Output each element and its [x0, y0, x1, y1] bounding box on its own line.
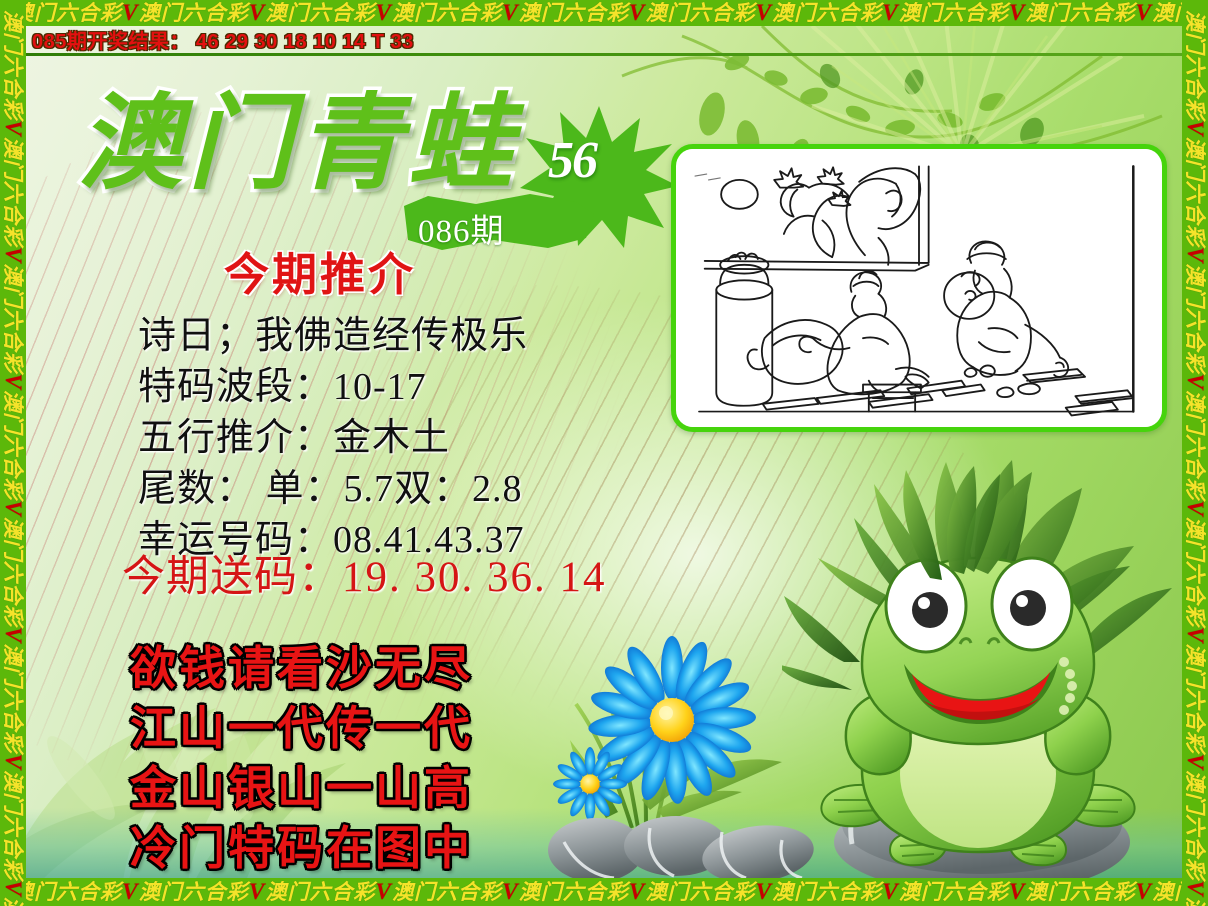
- border-unit-accent: V: [0, 120, 26, 137]
- recommend-row-0: 诗日；我佛造经传极乐: [138, 311, 528, 362]
- border-unit-accent: V: [122, 0, 139, 26]
- result-text: 085期开奖结果： 46 29 30 18 10 14 T 33: [32, 26, 414, 54]
- border-unit-text: 澳门六合彩: [1026, 1, 1136, 25]
- border-unit-text: 澳门六合彩: [1183, 390, 1207, 500]
- border-unit-accent: V: [502, 0, 519, 26]
- border-unit-text: 澳门六合彩: [1, 897, 25, 906]
- page-title: 澳门青蛙: [78, 92, 518, 196]
- border-unit-accent: V: [249, 0, 266, 26]
- border-unit-accent: V: [1182, 373, 1208, 390]
- border-unit-text: 澳门六合彩: [1183, 897, 1207, 906]
- border-unit-text: 澳门六合彩: [645, 880, 755, 904]
- border-unit-accent: V: [122, 879, 139, 905]
- border-unit-text: 澳门六合彩: [1, 643, 25, 753]
- recommend-list: 诗日；我佛造经传极乐 特码波段：10-17 五行推介：金木土 尾数： 单：5.7…: [138, 311, 528, 566]
- issue-number-label: 086期: [418, 204, 505, 252]
- border-unit-accent: V: [0, 753, 26, 770]
- border-unit-accent: V: [502, 879, 519, 905]
- border-unit-accent: V: [0, 373, 26, 390]
- border-unit-text: 澳门六合彩: [392, 880, 502, 904]
- border-unit-accent: V: [1182, 753, 1208, 770]
- border-unit-text: 澳门六合彩: [12, 880, 122, 904]
- border-unit-accent: V: [1182, 247, 1208, 264]
- border-bottom: 澳门六合彩V澳门六合彩V澳门六合彩V澳门六合彩V澳门六合彩V澳门六合彩V澳门六合…: [0, 878, 1208, 906]
- poem-line-1: 江山一代传一代: [130, 698, 473, 758]
- issue-badge-56: 56: [548, 131, 596, 190]
- border-unit-accent: V: [1182, 880, 1208, 897]
- border-unit-accent: V: [629, 0, 646, 26]
- border-unit-text: 澳门六合彩: [12, 1, 122, 25]
- border-unit-text: 澳门六合彩: [899, 880, 1009, 904]
- border-unit-text: 澳门六合彩: [1183, 517, 1207, 627]
- send-code-label: 今期送码：: [122, 554, 342, 601]
- border-unit-accent: V: [1009, 879, 1026, 905]
- border-unit-text: 澳门六合彩: [519, 880, 629, 904]
- border-unit-accent: V: [0, 627, 26, 644]
- border-unit-text: 澳门六合彩: [899, 1, 1009, 25]
- border-unit-accent: V: [882, 0, 899, 26]
- poster-canvas: 085期开奖结果： 46 29 30 18 10 14 T 33 56 澳门青蛙…: [26, 26, 1182, 878]
- border-unit-text: 澳门六合彩: [1, 390, 25, 500]
- border-unit-text: 澳门六合彩: [519, 1, 629, 25]
- poster-root: 085期开奖结果： 46 29 30 18 10 14 T 33 56 澳门青蛙…: [0, 0, 1208, 906]
- border-unit-accent: V: [0, 880, 26, 897]
- recommend-row-2: 五行推介：金木土: [138, 413, 528, 464]
- border-unit-text: 澳门六合彩: [1026, 880, 1136, 904]
- border-unit-text: 澳门六合彩: [1, 137, 25, 247]
- border-unit-text: 澳门六合彩: [265, 880, 375, 904]
- border-right: 澳门六合彩V澳门六合彩V澳门六合彩V澳门六合彩V澳门六合彩V澳门六合彩V澳门六合…: [1182, 0, 1208, 906]
- recommend-heading: 今期推介: [224, 250, 416, 300]
- border-unit-text: 澳门六合彩: [772, 1, 882, 25]
- poem-line-2: 金山银山一山高: [130, 758, 473, 818]
- frog-decor: [782, 448, 1174, 878]
- border-unit-accent: V: [1136, 879, 1153, 905]
- border-unit-text: 澳门六合彩: [265, 1, 375, 25]
- border-left-text: 澳门六合彩V澳门六合彩V澳门六合彩V澳门六合彩V澳门六合彩V澳门六合彩V澳门六合…: [0, 0, 26, 906]
- border-unit-text: 澳门六合彩: [1183, 770, 1207, 880]
- border-unit-accent: V: [755, 0, 772, 26]
- border-unit-accent: V: [1009, 0, 1026, 26]
- border-unit-accent: V: [0, 247, 26, 264]
- border-unit-text: 澳门六合彩: [1, 10, 25, 120]
- poem-line-0: 欲钱请看沙无尽: [130, 638, 473, 698]
- border-unit-text: 澳门六合彩: [392, 1, 502, 25]
- border-unit-text: 澳门六合彩: [645, 1, 755, 25]
- border-unit-accent: V: [375, 879, 392, 905]
- send-code-line: 今期送码：19. 30. 36. 14: [122, 554, 607, 602]
- illustration-panel: [671, 144, 1167, 432]
- border-unit-accent: V: [1136, 0, 1153, 26]
- border-unit-accent: V: [882, 879, 899, 905]
- poster-title: 澳门青蛙: [78, 92, 518, 196]
- border-unit-accent: V: [375, 0, 392, 26]
- border-unit-text: 澳门六合彩: [1, 263, 25, 373]
- recommend-row-3: 尾数： 单：5.7双：2.8: [138, 464, 528, 515]
- border-unit-text: 澳门六合彩: [1183, 10, 1207, 120]
- result-bar: 085期开奖结果： 46 29 30 18 10 14 T 33: [26, 26, 1182, 53]
- border-top: 澳门六合彩V澳门六合彩V澳门六合彩V澳门六合彩V澳门六合彩V澳门六合彩V澳门六合…: [0, 0, 1208, 26]
- border-unit-accent: V: [249, 879, 266, 905]
- line-drawing-illustration: [676, 149, 1162, 427]
- recommend-row-1: 特码波段：10-17: [138, 362, 528, 413]
- border-unit-accent: V: [1182, 120, 1208, 137]
- border-unit-accent: V: [629, 879, 646, 905]
- border-unit-text: 澳门六合彩: [772, 880, 882, 904]
- border-unit-accent: V: [1182, 500, 1208, 517]
- border-unit-text: 澳门六合彩: [1183, 137, 1207, 247]
- border-right-text: 澳门六合彩V澳门六合彩V澳门六合彩V澳门六合彩V澳门六合彩V澳门六合彩V澳门六合…: [1182, 0, 1208, 906]
- border-unit-text: 澳门六合彩: [1183, 643, 1207, 753]
- border-unit-text: 澳门六合彩: [139, 880, 249, 904]
- border-unit-text: 澳门六合彩: [139, 1, 249, 25]
- border-left: 澳门六合彩V澳门六合彩V澳门六合彩V澳门六合彩V澳门六合彩V澳门六合彩V澳门六合…: [0, 0, 26, 906]
- send-code-numbers: 19. 30. 36. 14: [342, 554, 607, 601]
- border-unit-text: 澳门六合彩: [1, 517, 25, 627]
- border-unit-accent: V: [0, 500, 26, 517]
- poem-block: 欲钱请看沙无尽 江山一代传一代 金山银山一山高 冷门特码在图中: [130, 638, 473, 878]
- border-unit-text: 澳门六合彩: [1, 770, 25, 880]
- poem-line-3: 冷门特码在图中: [130, 818, 473, 878]
- border-unit-accent: V: [1182, 627, 1208, 644]
- border-unit-accent: V: [755, 879, 772, 905]
- border-unit-text: 澳门六合彩: [1183, 263, 1207, 373]
